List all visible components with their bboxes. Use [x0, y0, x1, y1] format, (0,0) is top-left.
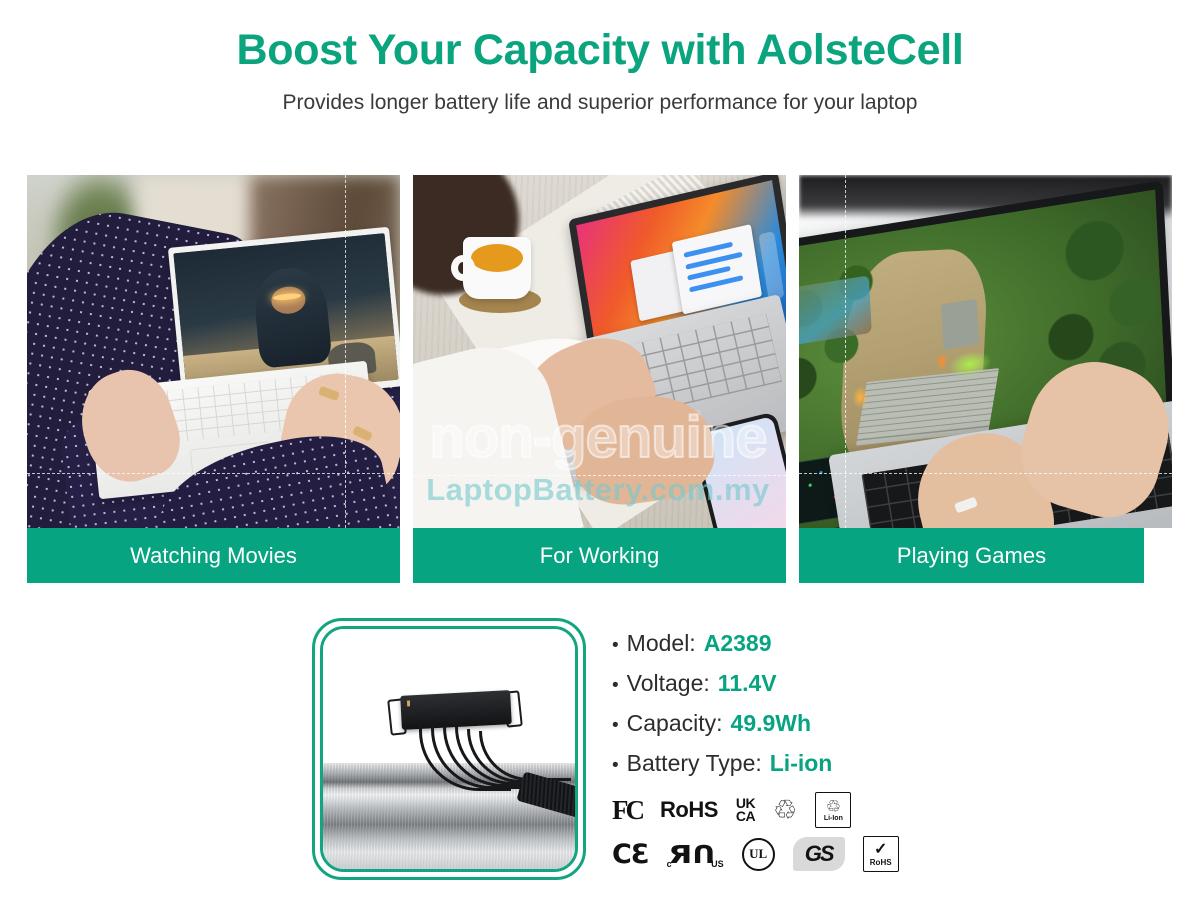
photo-playing-games	[799, 175, 1172, 528]
gs-icon: GS	[793, 837, 845, 871]
use-case-panel-watching-movies[interactable]: Watching Movies	[27, 175, 400, 583]
spec-label: Model:	[627, 630, 696, 657]
crop-guide-horizontal	[799, 473, 1172, 474]
recycle-icon: ♲	[773, 797, 797, 824]
spec-value: A2389	[704, 630, 772, 657]
rohs-icon: RoHS	[660, 797, 718, 823]
certification-row-2: CƐ c ЯՈ US UL GS ✓ RoHS	[612, 832, 912, 876]
macos-dock	[758, 231, 784, 301]
product-image-inner-frame	[320, 626, 578, 872]
spec-value: 49.9Wh	[731, 710, 812, 737]
ce-icon: CƐ	[612, 839, 649, 870]
crop-guide-vertical	[345, 175, 346, 528]
product-image-frame[interactable]	[312, 618, 586, 880]
photo-for-working	[413, 175, 786, 528]
spec-row-battery-type: • Battery Type: Li-ion	[612, 750, 942, 777]
rohs-check-icon: ✓ RoHS	[863, 836, 899, 872]
page-subtitle: Provides longer battery life and superio…	[0, 91, 1200, 115]
fcc-icon: FC	[612, 795, 642, 826]
use-case-panel-playing-games[interactable]: Playing Games	[799, 175, 1172, 583]
bullet-icon: •	[612, 756, 619, 775]
bullet-icon: •	[612, 676, 619, 695]
certification-row-1: FC RoHS UK CA ♲ ♲ Li-Ion	[612, 788, 912, 832]
mug-handle	[451, 255, 475, 281]
spec-value: Li-ion	[770, 750, 833, 777]
specification-list: • Model: A2389 • Voltage: 11.4V • Capaci…	[612, 630, 942, 790]
tea-liquid	[471, 244, 523, 272]
page-title: Boost Your Capacity with AolsteCell	[0, 26, 1200, 75]
photo-watching-movies	[27, 175, 400, 528]
spec-label: Battery Type:	[627, 750, 762, 777]
product-photo-battery-connector	[323, 629, 575, 869]
spec-value: 11.4V	[718, 670, 777, 697]
product-detail-section	[0, 610, 1200, 900]
bullet-icon: •	[612, 716, 619, 735]
panel-caption-for-working: For Working	[413, 528, 786, 583]
crop-guide-horizontal	[27, 473, 400, 474]
game-tower	[941, 298, 978, 349]
use-case-panel-for-working[interactable]: For Working	[413, 175, 786, 583]
bullet-icon: •	[612, 636, 619, 655]
culus-icon: c ЯՈ US	[667, 840, 724, 869]
li-ion-recycle-icon: ♲ Li-Ion	[815, 792, 851, 828]
use-case-panel-row: Watching Movies	[27, 175, 1173, 583]
game-flame	[936, 352, 949, 371]
panel-caption-playing-games: Playing Games	[799, 528, 1144, 583]
spec-label: Capacity:	[627, 710, 723, 737]
crop-guide-vertical	[845, 175, 846, 528]
crop-guide-horizontal	[413, 475, 786, 476]
ukca-icon: UK CA	[736, 797, 755, 823]
spec-label: Voltage:	[627, 670, 710, 697]
panel-caption-watching-movies: Watching Movies	[27, 528, 400, 583]
page-header: Boost Your Capacity with AolsteCell Prov…	[0, 0, 1200, 115]
game-flame	[852, 385, 869, 410]
spec-row-capacity: • Capacity: 49.9Wh	[612, 710, 942, 737]
spec-row-voltage: • Voltage: 11.4V	[612, 670, 942, 697]
ul-icon: UL	[742, 838, 775, 871]
spec-row-model: • Model: A2389	[612, 630, 942, 657]
certification-icon-group: FC RoHS UK CA ♲ ♲ Li-Ion CƐ c ЯՈ US UL	[612, 788, 912, 876]
